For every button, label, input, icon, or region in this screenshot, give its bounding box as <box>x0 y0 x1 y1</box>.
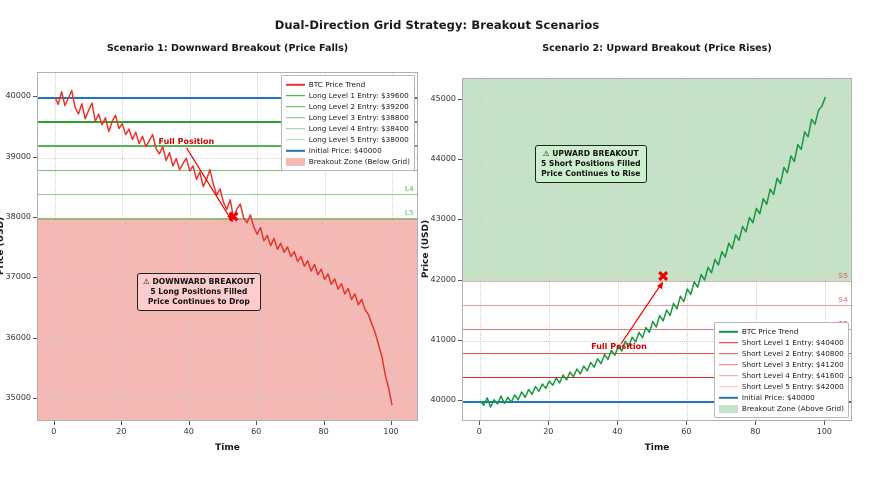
x-tick-mark <box>256 421 257 425</box>
full-position-callout-right: Full Position <box>591 342 647 351</box>
y-tick-mark <box>458 99 462 100</box>
legend-label: Breakout Zone (Below Grid) <box>309 156 410 167</box>
legend-item: Initial Price: $40000 <box>719 392 844 403</box>
legend-label: Short Level 3 Entry: $41200 <box>742 359 844 370</box>
y-tick-mark <box>458 280 462 281</box>
legend-label: BTC Price Trend <box>742 326 799 337</box>
full-position-callout-left: Full Position <box>159 137 215 146</box>
x-tick-label: 100 <box>371 427 411 436</box>
y-tick-label: 41000 <box>416 335 456 344</box>
legend-item: Short Level 4 Entry: $41600 <box>719 370 844 381</box>
legend-item: Breakout Zone (Above Grid) <box>719 403 844 414</box>
legend-swatch-icon <box>719 371 738 381</box>
legend-swatch-icon <box>719 338 738 348</box>
x-tick-label: 0 <box>459 427 499 436</box>
x-tick-mark <box>824 421 825 425</box>
x-tick-mark <box>755 421 756 425</box>
panel-title-right: Scenario 2: Upward Breakout (Price Rises… <box>462 43 852 54</box>
y-tick-mark <box>33 217 37 218</box>
y-tick-mark <box>33 338 37 339</box>
legend-label: Long Level 2 Entry: $39200 <box>309 101 409 112</box>
x-tick-label: 100 <box>804 427 844 436</box>
legend-label: Long Level 4 Entry: $38400 <box>309 123 409 134</box>
y-axis-label-left: Price (USD) <box>0 186 6 306</box>
legend-item: Long Level 4 Entry: $38400 <box>286 123 410 134</box>
legend-item: Short Level 3 Entry: $41200 <box>719 359 844 370</box>
x-tick-mark <box>617 421 618 425</box>
legend-label: Short Level 5 Entry: $42000 <box>742 381 844 392</box>
legend-item: Initial Price: $40000 <box>286 145 410 156</box>
x-tick-mark <box>324 421 325 425</box>
plot-area-right: S1S2S3S4S5✖Full Position⚠ UPWARD BREAKOU… <box>462 78 852 421</box>
x-tick-mark <box>479 421 480 425</box>
annotation-line-3: Price Continues to Rise <box>541 169 641 179</box>
y-tick-mark <box>458 400 462 401</box>
breakout-annotation-left: ⚠ DOWNWARD BREAKOUT5 Long Positions Fill… <box>137 273 261 311</box>
legend-label: Short Level 1 Entry: $40400 <box>742 337 844 348</box>
legend-swatch-icon <box>286 124 305 134</box>
legend-swatch-icon <box>719 327 738 337</box>
legend-label: Long Level 1 Entry: $39600 <box>309 90 409 101</box>
y-tick-mark <box>33 96 37 97</box>
annotation-line-1: ⚠ DOWNWARD BREAKOUT <box>143 277 255 287</box>
x-tick-label: 0 <box>34 427 74 436</box>
x-tick-label: 20 <box>101 427 141 436</box>
panel-title-left: Scenario 1: Downward Breakout (Price Fal… <box>37 43 418 54</box>
legend-right: BTC Price TrendShort Level 1 Entry: $404… <box>714 322 849 418</box>
y-tick-label: 44000 <box>416 154 456 163</box>
legend-label: Initial Price: $40000 <box>742 392 815 403</box>
legend-label: Breakout Zone (Above Grid) <box>742 403 844 414</box>
x-tick-mark <box>548 421 549 425</box>
legend-swatch-icon <box>286 146 305 156</box>
legend-item: Breakout Zone (Below Grid) <box>286 156 410 167</box>
x-tick-label: 40 <box>597 427 637 436</box>
y-axis-label-right: Price (USD) <box>421 189 431 309</box>
legend-swatch-icon <box>286 113 305 123</box>
legend-swatch-icon <box>286 135 305 145</box>
legend-label: BTC Price Trend <box>309 79 366 90</box>
legend-item: Short Level 1 Entry: $40400 <box>719 337 844 348</box>
legend-swatch-icon <box>286 91 305 101</box>
legend-label: Long Level 3 Entry: $38800 <box>309 112 409 123</box>
x-tick-label: 40 <box>169 427 209 436</box>
y-tick-mark <box>33 398 37 399</box>
legend-item: BTC Price Trend <box>286 79 410 90</box>
x-tick-label: 60 <box>236 427 276 436</box>
y-tick-mark <box>458 159 462 160</box>
y-tick-label: 45000 <box>416 94 456 103</box>
legend-swatch-icon <box>719 349 738 359</box>
annotation-line-3: Price Continues to Drop <box>143 297 255 307</box>
y-tick-mark <box>33 157 37 158</box>
legend-swatch-icon <box>286 80 305 90</box>
x-tick-mark <box>121 421 122 425</box>
legend-label: Initial Price: $40000 <box>309 145 382 156</box>
plot-area-left: L1L2L3L4L5✖Full Position⚠ DOWNWARD BREAK… <box>37 72 418 421</box>
x-tick-mark <box>54 421 55 425</box>
legend-swatch-icon <box>719 393 738 403</box>
legend-label: Short Level 2 Entry: $40800 <box>742 348 844 359</box>
x-axis-label-left: Time <box>37 443 418 453</box>
y-tick-label: 40000 <box>416 395 456 404</box>
full-position-marker: ✖ <box>227 208 240 226</box>
legend-item: BTC Price Trend <box>719 326 844 337</box>
y-tick-label: 40000 <box>0 91 31 100</box>
figure: Dual-Direction Grid Strategy: Breakout S… <box>0 0 874 482</box>
figure-title: Dual-Direction Grid Strategy: Breakout S… <box>0 18 874 32</box>
y-tick-mark <box>33 277 37 278</box>
legend-swatch-icon <box>719 360 738 370</box>
x-tick-label: 80 <box>304 427 344 436</box>
y-tick-mark <box>458 219 462 220</box>
legend-swatch-icon <box>286 102 305 112</box>
legend-swatch-icon <box>719 404 738 414</box>
y-tick-label: 35000 <box>0 393 31 402</box>
legend-item: Short Level 5 Entry: $42000 <box>719 381 844 392</box>
legend-left: BTC Price TrendLong Level 1 Entry: $3960… <box>281 75 415 171</box>
y-tick-label: 39000 <box>0 152 31 161</box>
x-tick-mark <box>189 421 190 425</box>
x-tick-mark <box>686 421 687 425</box>
annotation-line-2: 5 Long Positions Filled <box>143 287 255 297</box>
x-axis-label-right: Time <box>462 443 852 453</box>
legend-item: Long Level 2 Entry: $39200 <box>286 101 410 112</box>
x-tick-label: 60 <box>666 427 706 436</box>
y-tick-mark <box>458 340 462 341</box>
legend-label: Long Level 5 Entry: $38000 <box>309 134 409 145</box>
legend-swatch-icon <box>719 382 738 392</box>
x-tick-label: 80 <box>735 427 775 436</box>
legend-item: Long Level 5 Entry: $38000 <box>286 134 410 145</box>
breakout-annotation-right: ⚠ UPWARD BREAKOUT5 Short Positions Fille… <box>535 145 647 183</box>
full-position-marker: ✖ <box>657 268 670 286</box>
annotation-line-2: 5 Short Positions Filled <box>541 159 641 169</box>
legend-item: Long Level 3 Entry: $38800 <box>286 112 410 123</box>
legend-item: Long Level 1 Entry: $39600 <box>286 90 410 101</box>
legend-swatch-icon <box>286 157 305 167</box>
legend-item: Short Level 2 Entry: $40800 <box>719 348 844 359</box>
legend-label: Short Level 4 Entry: $41600 <box>742 370 844 381</box>
x-tick-label: 20 <box>528 427 568 436</box>
y-tick-label: 36000 <box>0 333 31 342</box>
annotation-line-1: ⚠ UPWARD BREAKOUT <box>541 149 641 159</box>
x-tick-mark <box>391 421 392 425</box>
